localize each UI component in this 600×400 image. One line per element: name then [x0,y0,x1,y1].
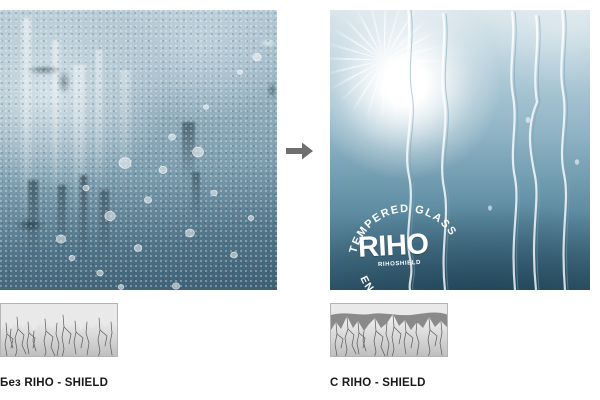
riho-tempered-glass-stamp: TEMPERED GLASS EN 12150-1 ST RIHO RIHOSH… [346,190,466,290]
before-photo-droplets [0,10,277,290]
arrow-right-icon [286,140,314,162]
before-photo [0,10,277,290]
comparison-figure: TEMPERED GLASS EN 12150-1 ST RIHO RIHOSH… [0,0,600,400]
after-caption: С RIHO - SHIELD [330,377,426,389]
before-cross-section-diagram [0,303,118,357]
stamp-brand-name: RIHO [357,230,429,263]
before-caption: Без RIHO - SHIELD [0,377,108,389]
stamp-bottom-arc-text: EN 12150-1 ST [357,270,442,290]
after-photo: TEMPERED GLASS EN 12150-1 ST RIHO RIHOSH… [330,10,590,290]
after-cross-section-diagram [330,303,448,357]
